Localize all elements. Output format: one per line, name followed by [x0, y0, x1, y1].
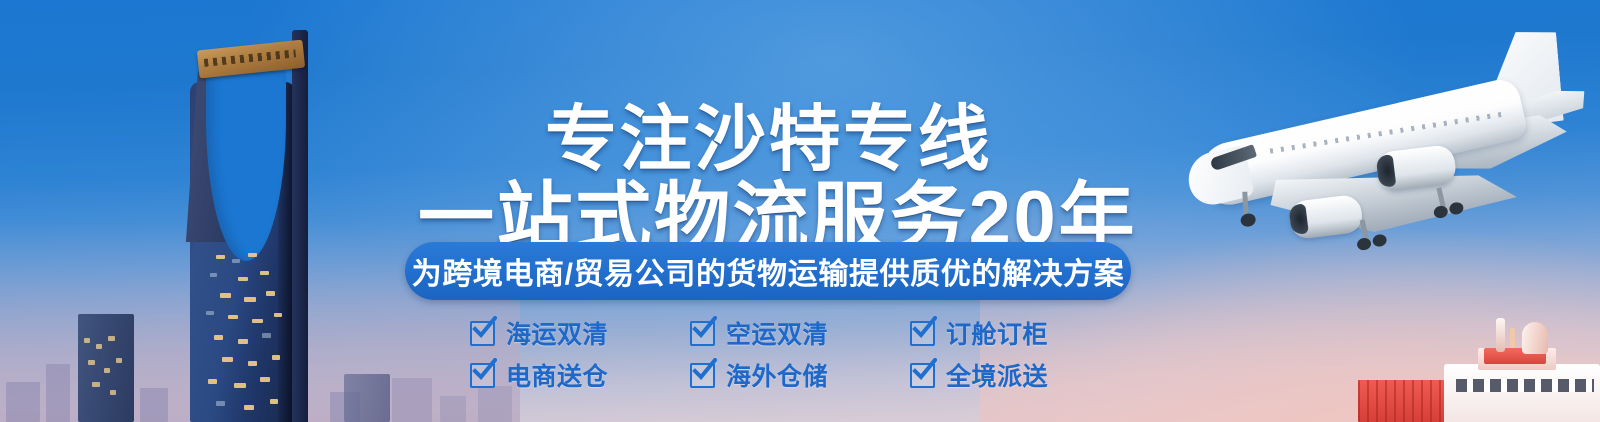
- checkbox-checked-icon: [470, 363, 495, 388]
- feature-label: 海外仓储: [726, 357, 828, 393]
- subtitle-pill: 为跨境电商/贸易公司的货物运输提供质优的解决方案: [405, 242, 1131, 300]
- feature-label: 订舱订柜: [946, 315, 1048, 351]
- feature-label: 全境派送: [946, 357, 1048, 393]
- feature-item-booking-container: 订舱订柜: [910, 314, 1090, 352]
- feature-list: 海运双清 空运双清 订舱订柜 电商送仓: [470, 314, 1090, 394]
- banner-copy-block: 专注沙特专线 一站式物流服务20年 为跨境电商/贸易公司的货物运输提供质优的解决…: [0, 0, 1600, 422]
- checkbox-checked-icon: [910, 363, 935, 388]
- promo-banner: 专注沙特专线 一站式物流服务20年 为跨境电商/贸易公司的货物运输提供质优的解决…: [0, 0, 1600, 422]
- checkbox-checked-icon: [470, 321, 495, 346]
- feature-item-ecommerce-warehouse-delivery: 电商送仓: [470, 356, 690, 394]
- feature-label: 海运双清: [506, 315, 608, 351]
- checkbox-checked-icon: [690, 363, 715, 388]
- checkbox-checked-icon: [910, 321, 935, 346]
- feature-label: 电商送仓: [506, 357, 608, 393]
- feature-item-nationwide-delivery: 全境派送: [910, 356, 1090, 394]
- feature-item-air-freight-customs: 空运双清: [690, 314, 910, 352]
- feature-item-sea-freight-customs: 海运双清: [470, 314, 690, 352]
- feature-item-overseas-warehousing: 海外仓储: [690, 356, 910, 394]
- subtitle-text: 为跨境电商/贸易公司的货物运输提供质优的解决方案: [412, 249, 1125, 293]
- feature-label: 空运双清: [726, 315, 828, 351]
- checkbox-checked-icon: [690, 321, 715, 346]
